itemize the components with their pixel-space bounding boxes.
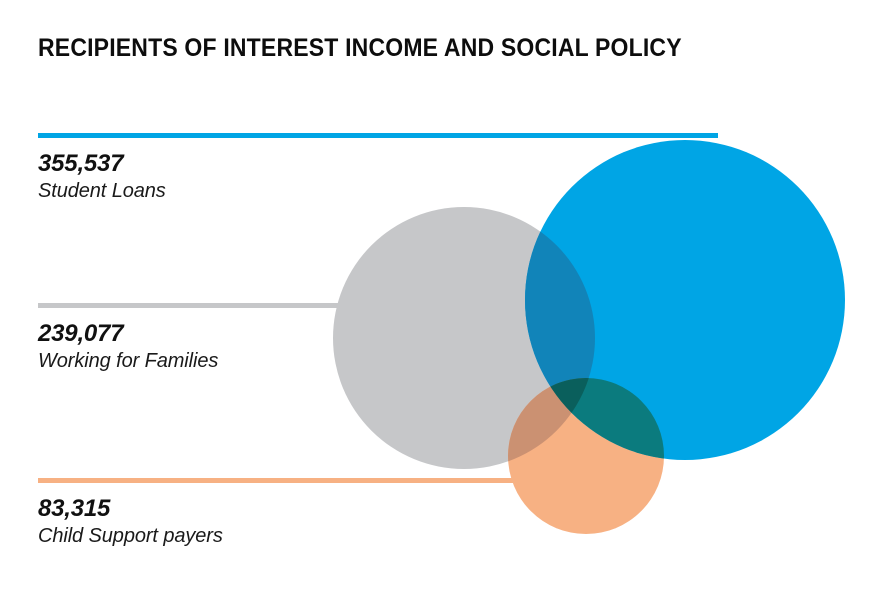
legend-label-child-support-payers: Child Support payers [38, 523, 223, 549]
leader-line-working-for-families [38, 303, 340, 308]
legend-item-student-loans: 355,537 Student Loans [38, 150, 166, 204]
legend-value-student-loans: 355,537 [38, 150, 166, 178]
leader-line-child-support-payers [38, 478, 513, 483]
legend-item-child-support-payers: 83,315 Child Support payers [38, 495, 223, 549]
infographic-canvas: RECIPIENTS OF INTEREST INCOME AND SOCIAL… [0, 0, 889, 602]
leader-line-student-loans [38, 133, 718, 138]
legend-item-working-for-families: 239,077 Working for Families [38, 320, 218, 374]
legend-label-student-loans: Student Loans [38, 178, 166, 204]
legend-value-working-for-families: 239,077 [38, 320, 218, 348]
legend-label-working-for-families: Working for Families [38, 348, 218, 374]
legend-value-child-support-payers: 83,315 [38, 495, 223, 523]
